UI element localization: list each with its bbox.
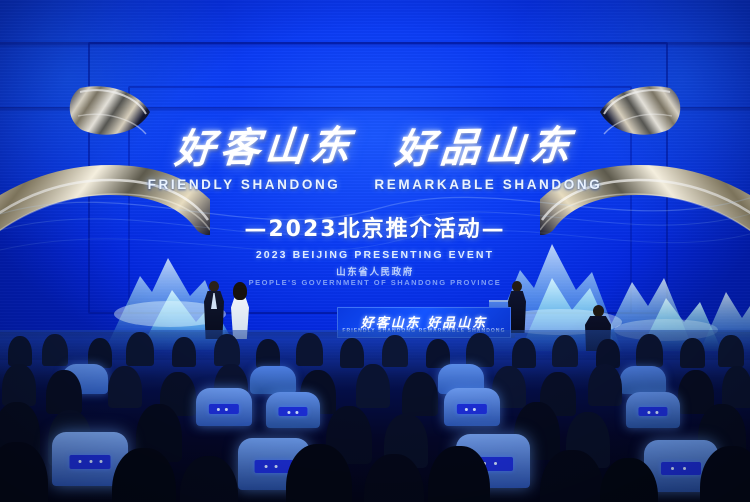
chair-placard: [661, 462, 701, 476]
main-title-english-row: FRIENDLY SHANDONG REMARKABLE SHANDONG: [0, 177, 750, 192]
female-host-hair: [233, 282, 247, 300]
organizer-english: PEOPLE'S GOVERNMENT OF SHANDONG PROVINCE: [0, 278, 750, 287]
audience-member: [512, 338, 536, 368]
audience-member: [680, 338, 705, 368]
audience-member: [718, 335, 744, 367]
audience-member: [2, 364, 36, 406]
audience-chair: [626, 392, 680, 428]
screen-title-block: 好客山东 好品山东 FRIENDLY SHANDONG REMARKABLE S…: [0, 118, 750, 261]
audience-area: [0, 330, 750, 502]
audience-member: [382, 335, 408, 367]
audience-member: [588, 364, 622, 406]
title-en-right: REMARKABLE SHANDONG: [374, 177, 602, 192]
subtitle-chinese: —2023北京推介活动—: [0, 211, 750, 243]
audience-member: [552, 335, 578, 367]
chair-placard: [209, 404, 239, 414]
subtitle-english: 2023 BEIJING PRESENTING EVENT: [0, 249, 750, 261]
audience-member: [42, 334, 68, 366]
audience-member: [180, 456, 238, 502]
audience-chair: [250, 366, 296, 394]
chair-placard: [638, 407, 667, 416]
audience-member: [8, 336, 32, 366]
audience-member: [426, 339, 450, 368]
audience-member: [722, 366, 750, 408]
audience-member: [466, 333, 494, 367]
audience-member: [296, 333, 323, 366]
audience-member: [402, 372, 438, 416]
standing-attendee-head: [593, 305, 604, 317]
chair-placard: [457, 404, 487, 414]
conference-stage-photo: 好客山东 好品山东 FRIENDLY SHANDONG REMARKABLE S…: [0, 0, 750, 502]
audience-member: [256, 339, 280, 368]
audience-member: [108, 366, 142, 408]
main-title-chinese-row: 好客山东 好品山东: [0, 118, 750, 170]
audience-member: [214, 334, 240, 366]
title-cn-left: 好客山东: [173, 124, 357, 172]
title-cn-right: 好品山东: [393, 124, 577, 172]
audience-member: [126, 332, 154, 366]
audience-chair: [266, 392, 320, 428]
audience-member: [172, 337, 196, 367]
organizer-chinese: 山东省人民政府: [0, 264, 750, 278]
chair-placard: [69, 455, 110, 469]
audience-member: [636, 334, 663, 367]
chair-placard: [278, 407, 307, 416]
audience-member: [0, 442, 48, 502]
audience-member: [340, 338, 364, 368]
audience-member: [46, 370, 82, 414]
audience-chair: [444, 388, 500, 426]
title-en-left: FRIENDLY SHANDONG: [148, 177, 341, 192]
speaker-head: [512, 281, 522, 292]
audience-chair: [196, 388, 252, 426]
male-host-head: [209, 281, 219, 292]
audience-member: [356, 364, 390, 408]
audience-chair: [620, 366, 666, 394]
